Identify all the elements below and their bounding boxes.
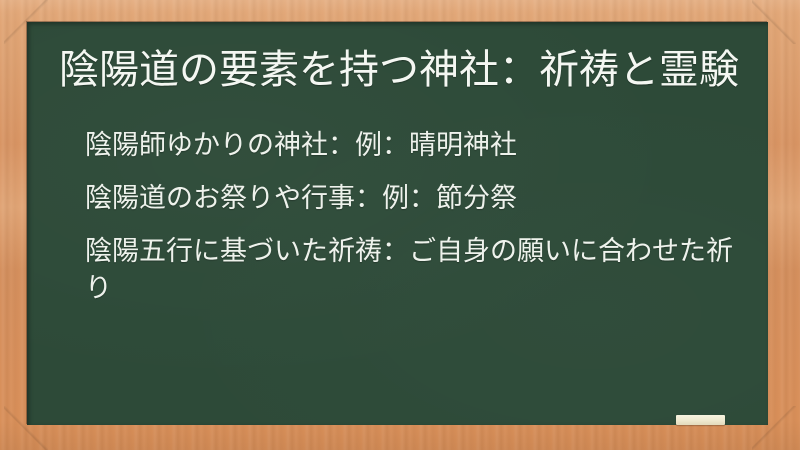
chalk-stick bbox=[676, 415, 725, 425]
list-item: 陰陽五行に基づいた祈祷：ご自身の願いに合わせた祈り bbox=[85, 233, 745, 307]
chalkboard-surface: 陰陽道の要素を持つ神社：祈祷と霊験 陰陽師ゆかりの神社：例：晴明神社 陰陽道のお… bbox=[27, 22, 768, 425]
list-item: 陰陽師ゆかりの神社：例：晴明神社 bbox=[85, 127, 745, 164]
chalkboard-slide: 陰陽道の要素を持つ神社：祈祷と霊験 陰陽師ゆかりの神社：例：晴明神社 陰陽道のお… bbox=[0, 0, 800, 450]
slide-title: 陰陽道の要素を持つ神社：祈祷と霊験 bbox=[59, 45, 759, 95]
bullet-list: 陰陽師ゆかりの神社：例：晴明神社 陰陽道のお祭りや行事：例：節分祭 陰陽五行に基… bbox=[85, 127, 745, 307]
list-item: 陰陽道のお祭りや行事：例：節分祭 bbox=[85, 180, 745, 217]
